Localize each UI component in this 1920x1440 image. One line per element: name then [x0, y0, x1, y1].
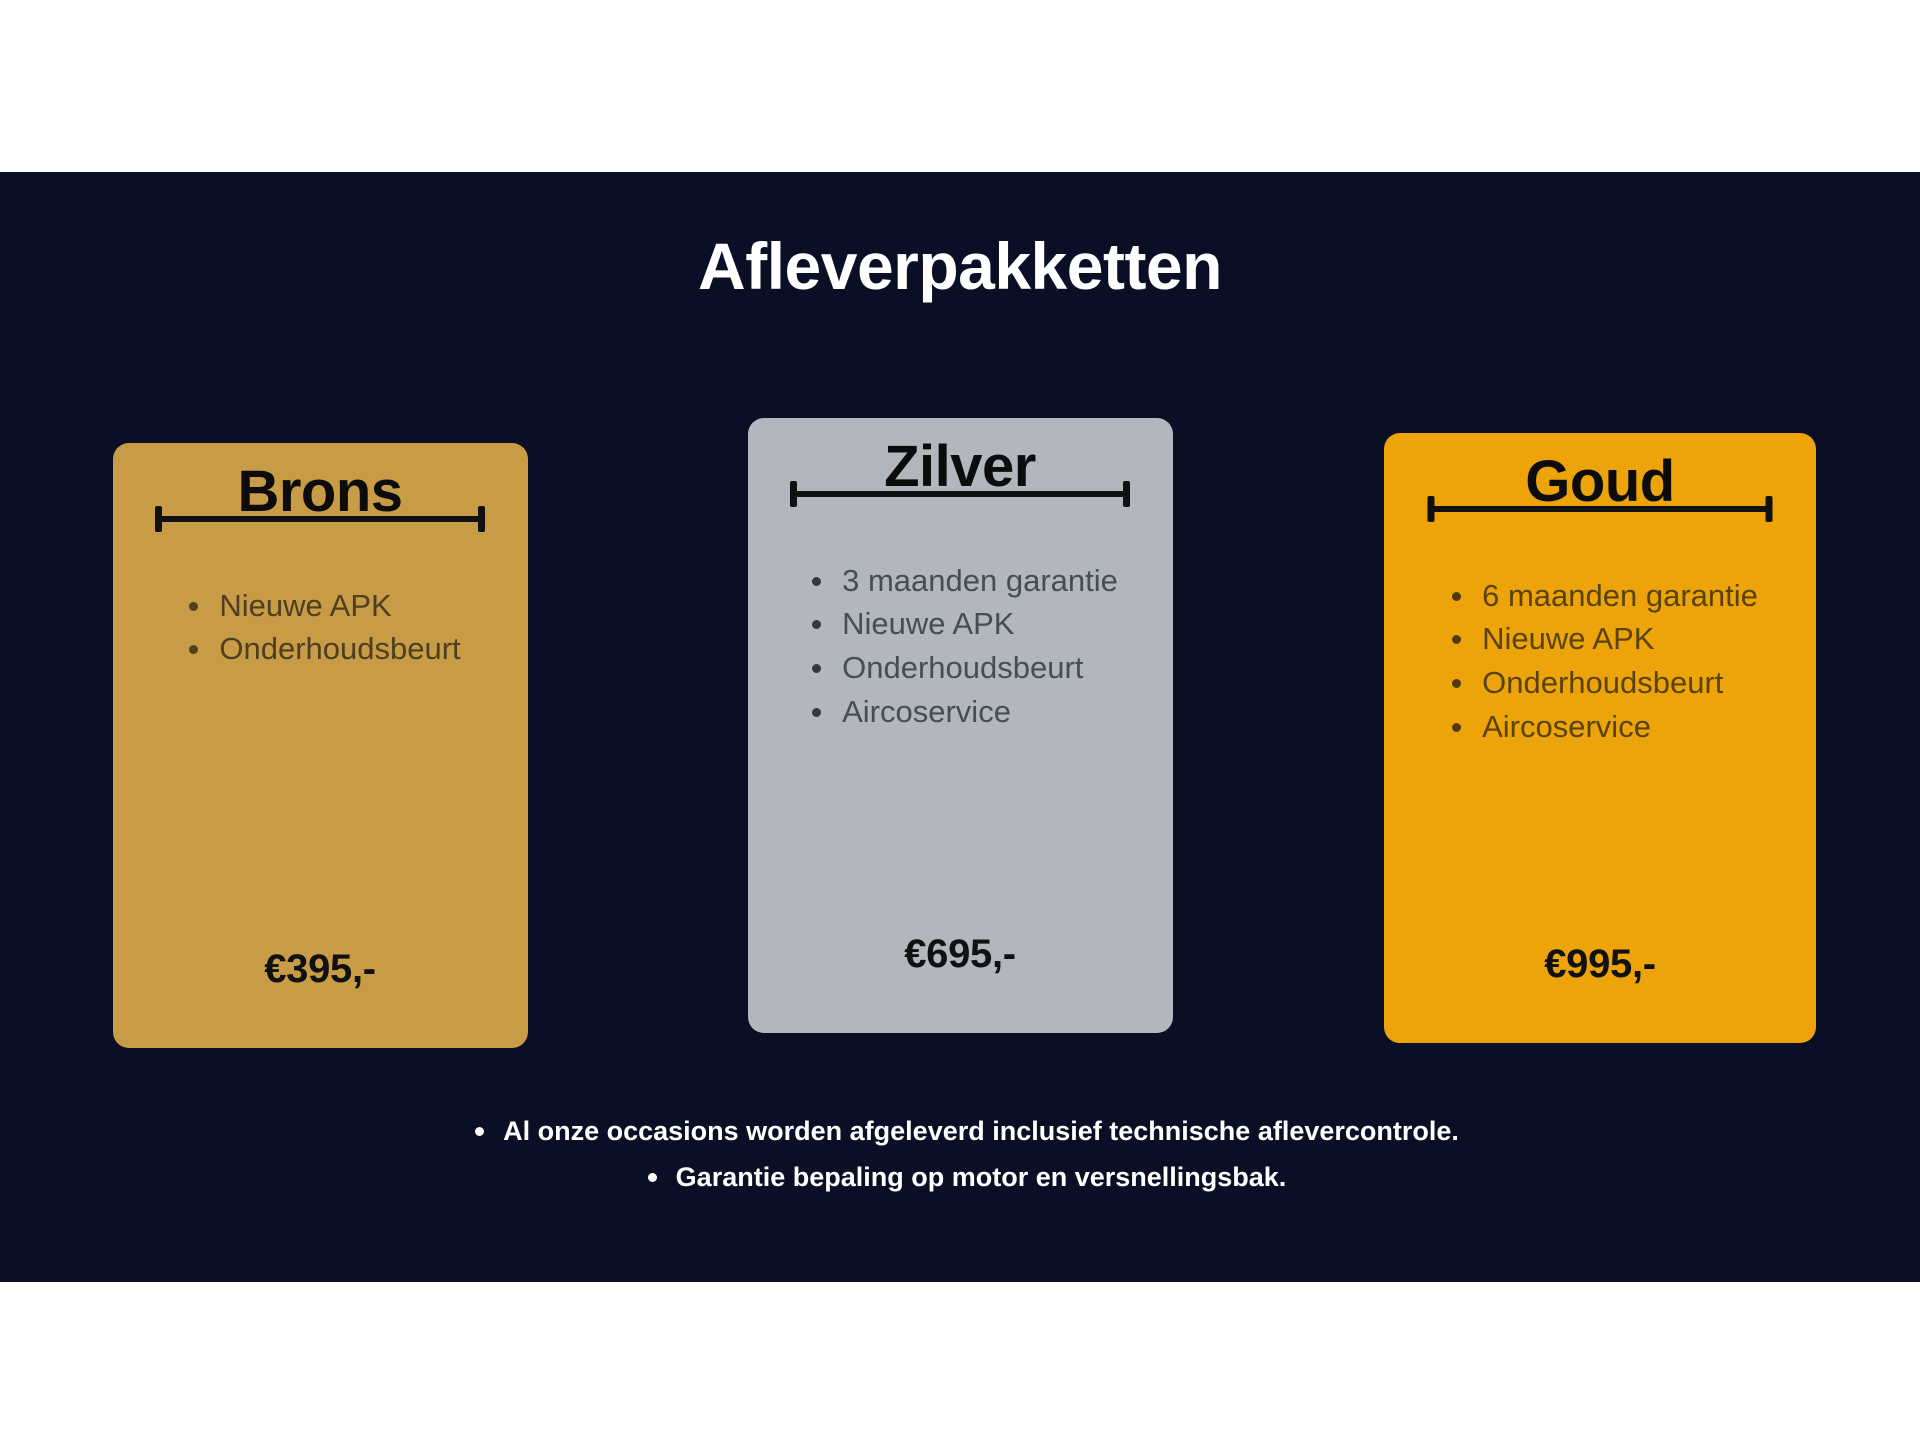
package-header-goud: Goud [1384, 433, 1816, 514]
package-slot-goud: Goud 6 maanden garantie Nieuwe APK Onder… [1280, 418, 1920, 1043]
package-name-goud: Goud [1384, 451, 1816, 514]
footer-notes: Al onze occasions worden afgeleverd incl… [0, 1108, 1920, 1201]
list-item: Onderhoudsbeurt [179, 629, 460, 669]
feature-list-zilver: 3 maanden garantie Nieuwe APK Onderhouds… [748, 561, 1173, 736]
package-name-zilver: Zilver [748, 436, 1173, 499]
package-card-brons[interactable]: Brons Nieuwe APK Onderhoudsbeurt €395,- [113, 443, 528, 1048]
slide-canvas: Afleverpakketten Brons Nieuwe APK Onderh… [0, 0, 1920, 1440]
package-price-brons: €395,- [113, 947, 528, 992]
list-item: Onderhoudsbeurt [1442, 663, 1758, 703]
package-header-zilver: Zilver [748, 418, 1173, 499]
package-slot-brons: Brons Nieuwe APK Onderhoudsbeurt €395,- [0, 418, 640, 1048]
list-item: Aircoservice [802, 692, 1118, 732]
footer-note-row: Garantie bepaling op motor en versnellin… [0, 1154, 1920, 1200]
list-item: Nieuwe APK [179, 586, 460, 626]
package-card-goud[interactable]: Goud 6 maanden garantie Nieuwe APK Onder… [1384, 433, 1816, 1043]
footer-note-list: Al onze occasions worden afgeleverd incl… [0, 1108, 1920, 1201]
list-item: 3 maanden garantie [802, 561, 1118, 601]
package-name-brons: Brons [113, 461, 528, 524]
package-slot-zilver: Zilver 3 maanden garantie Nieuwe APK Ond… [640, 418, 1280, 1033]
package-price-goud: €995,- [1384, 942, 1816, 987]
package-card-zilver[interactable]: Zilver 3 maanden garantie Nieuwe APK Ond… [748, 418, 1173, 1033]
list-item: Nieuwe APK [1442, 619, 1758, 659]
feature-list-brons: Nieuwe APK Onderhoudsbeurt [113, 586, 528, 673]
page-title: Afleverpakketten [0, 232, 1920, 301]
list-item: Nieuwe APK [802, 604, 1118, 644]
feature-list-goud: 6 maanden garantie Nieuwe APK Onderhouds… [1384, 576, 1816, 751]
package-card-row: Brons Nieuwe APK Onderhoudsbeurt €395,- [0, 418, 1920, 1048]
list-item: 6 maanden garantie [1442, 576, 1758, 616]
list-item: Garantie bepaling op motor en versnellin… [634, 1154, 1287, 1200]
package-header-brons: Brons [113, 443, 528, 524]
list-item: Al onze occasions worden afgeleverd incl… [461, 1108, 1459, 1154]
footer-note-row: Al onze occasions worden afgeleverd incl… [0, 1108, 1920, 1154]
list-item: Onderhoudsbeurt [802, 648, 1118, 688]
list-item: Aircoservice [1442, 707, 1758, 747]
package-price-zilver: €695,- [748, 932, 1173, 977]
